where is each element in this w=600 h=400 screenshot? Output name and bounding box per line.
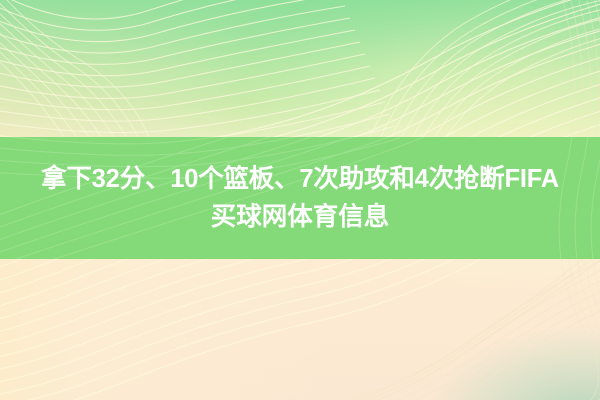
- background-mint-top: [0, 0, 600, 160]
- background-teal-corner: [324, 280, 600, 400]
- headline-line-2: 买球网体育信息: [211, 198, 390, 236]
- headline-line-1: 拿下32分、10个篮板、7次助攻和4次抢断FIFA: [41, 160, 559, 198]
- headline-band: 拿下32分、10个篮板、7次助攻和4次抢断FIFA 买球网体育信息: [0, 137, 600, 259]
- banner-graphic: 拿下32分、10个篮板、7次助攻和4次抢断FIFA 买球网体育信息: [0, 0, 600, 400]
